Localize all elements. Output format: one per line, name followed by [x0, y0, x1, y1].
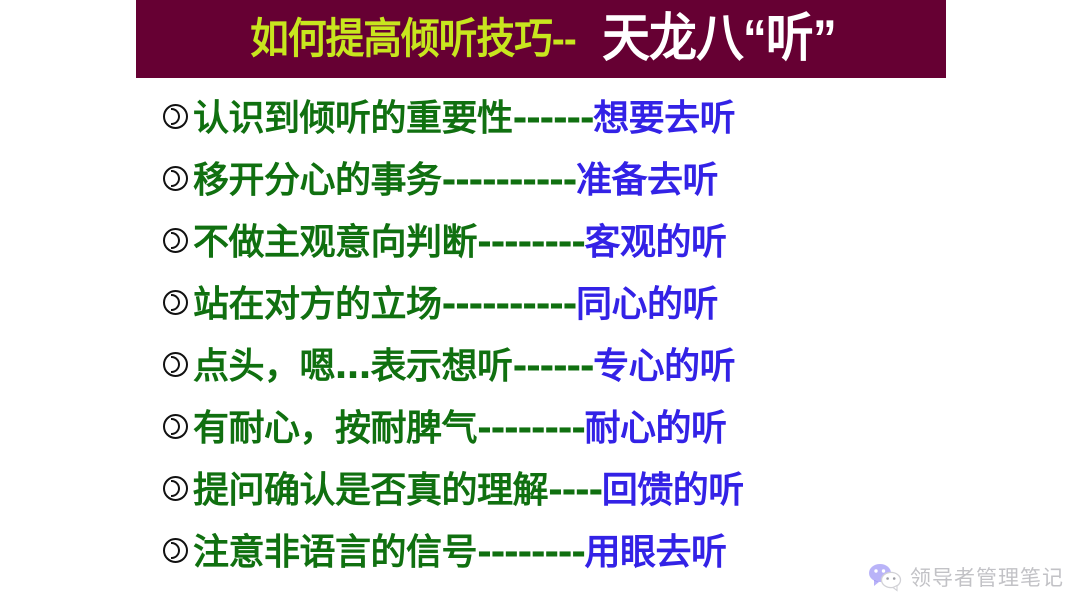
list-item: 提问确认是否真的理解----回馈的听	[0, 456, 1080, 518]
list-item-connector: --------	[477, 532, 585, 573]
list-item-outcome: 专心的听	[593, 346, 735, 387]
list-item: 点头，嗯…表示想听------专心的听	[0, 332, 1080, 394]
circled-crescent-icon	[163, 166, 193, 191]
slide-title-banner: 如何提高倾听技巧-- 天龙八“听”	[136, 0, 946, 78]
circled-crescent-icon	[163, 476, 193, 501]
list-item-outcome: 耐心的听	[585, 408, 727, 449]
list-item: 有耐心，按耐脾气--------耐心的听	[0, 394, 1080, 456]
circled-crescent-icon	[163, 104, 193, 129]
list-item-connector: --------	[477, 408, 585, 449]
list-item-connector: ------	[513, 98, 594, 139]
wechat-icon	[868, 562, 902, 592]
circled-crescent-icon	[163, 414, 193, 439]
listening-tips-list: 认识到倾听的重要性------想要去听 移开分心的事务----------准备去…	[0, 84, 1080, 608]
list-item-connector: ----------	[442, 284, 576, 325]
list-item-connector: ----	[548, 470, 602, 511]
list-item-statement: 认识到倾听的重要性	[193, 98, 513, 139]
slide-title-emphasis: 天龙八“听”	[602, 13, 836, 65]
list-item: 不做主观意向判断--------客观的听	[0, 208, 1080, 270]
list-item-connector: ----------	[442, 160, 576, 201]
list-item-statement: 提问确认是否真的理解	[193, 470, 548, 511]
circled-crescent-icon	[163, 538, 193, 563]
list-item-statement: 移开分心的事务	[193, 160, 442, 201]
list-item-statement: 不做主观意向判断	[193, 222, 477, 263]
list-item: 移开分心的事务----------准备去听	[0, 146, 1080, 208]
watermark: 领导者管理笔记	[868, 562, 1064, 592]
list-item-outcome: 想要去听	[593, 98, 735, 139]
list-item-statement: 有耐心，按耐脾气	[193, 408, 477, 449]
list-item-outcome: 同心的听	[576, 284, 718, 325]
list-item-statement: 点头，嗯…表示想听	[193, 346, 513, 387]
list-item-outcome: 准备去听	[576, 160, 718, 201]
list-item: 站在对方的立场----------同心的听	[0, 270, 1080, 332]
circled-crescent-icon	[163, 290, 193, 315]
list-item-statement: 注意非语言的信号	[193, 532, 477, 573]
list-item: 认识到倾听的重要性------想要去听	[0, 84, 1080, 146]
watermark-label: 领导者管理笔记	[910, 562, 1064, 592]
list-item-outcome: 用眼去听	[585, 532, 727, 573]
list-item-outcome: 客观的听	[585, 222, 727, 263]
circled-crescent-icon	[163, 228, 193, 253]
list-item-outcome: 回馈的听	[602, 470, 744, 511]
list-item-connector: --------	[477, 222, 585, 263]
slide-canvas: 如何提高倾听技巧-- 天龙八“听” 认识到倾听的重要性------想要去听 移开…	[0, 0, 1080, 608]
list-item-connector: ------	[513, 346, 594, 387]
circled-crescent-icon	[163, 352, 193, 377]
slide-title-lead: 如何提高倾听技巧--	[250, 18, 576, 60]
list-item-statement: 站在对方的立场	[193, 284, 442, 325]
